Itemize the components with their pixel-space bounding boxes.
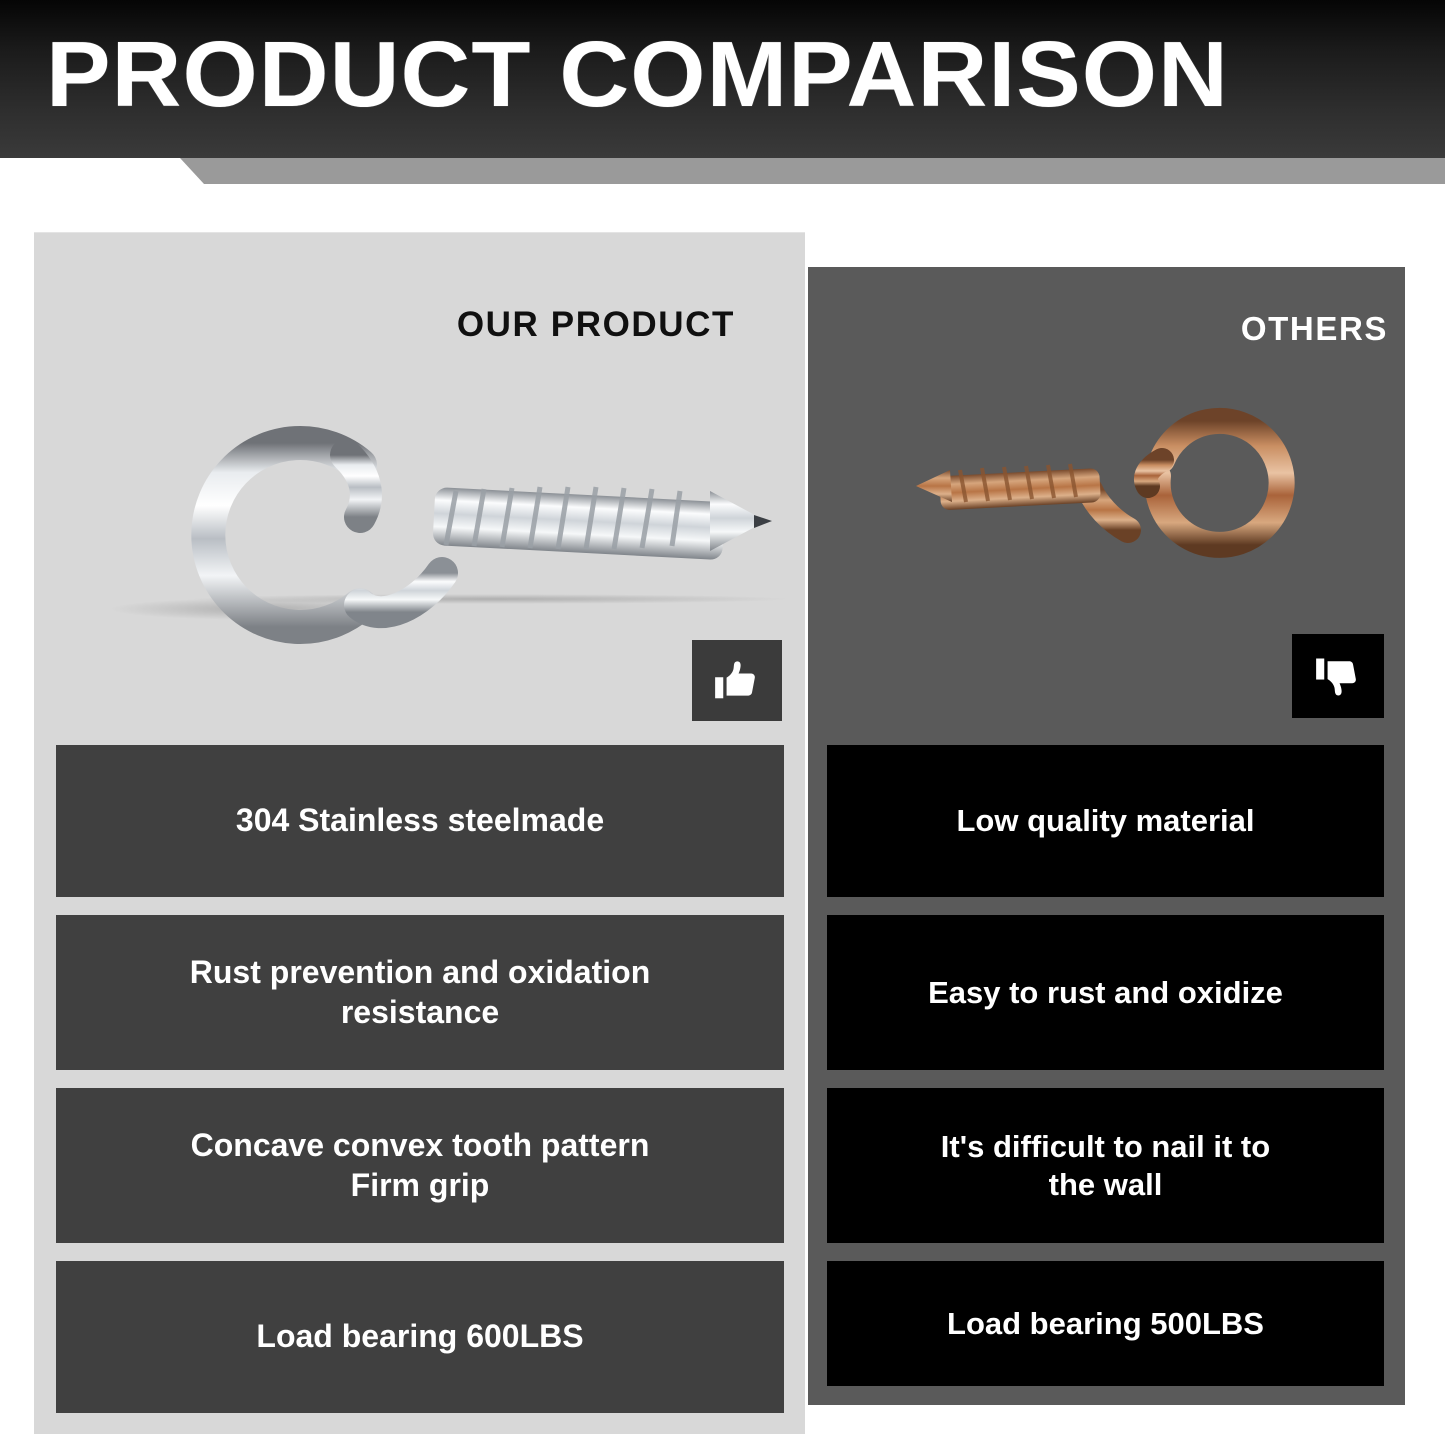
others-feature-item: Load bearing 500LBS — [827, 1261, 1384, 1386]
others-feature-line: Easy to rust and oxidize — [928, 974, 1283, 1012]
others-feature-item: Low quality material — [827, 745, 1384, 897]
our-product-image — [60, 355, 790, 655]
others-feature-line: the wall — [941, 1166, 1270, 1204]
others-feature-line: It's difficult to nail it to — [941, 1128, 1270, 1166]
others-label: OTHERS — [1060, 310, 1388, 348]
thumbs-up-icon — [711, 656, 763, 706]
thumbs-down-badge — [1292, 634, 1384, 718]
our-feature-line: Rust prevention and oxidation — [190, 953, 650, 992]
others-feature-line: Load bearing 500LBS — [947, 1305, 1264, 1343]
others-feature-item: Easy to rust and oxidize — [827, 915, 1384, 1070]
page-title: PRODUCT COMPARISON — [46, 24, 1229, 124]
our-feature-line: Concave convex tooth pattern — [191, 1126, 650, 1165]
our-feature-line: resistance — [190, 993, 650, 1032]
our-feature-line: Load bearing 600LBS — [256, 1317, 583, 1356]
thumbs-up-badge — [692, 640, 782, 721]
our-feature-item: Load bearing 600LBS — [56, 1261, 784, 1413]
our-feature-line: 304 Stainless steelmade — [236, 801, 604, 840]
our-feature-item: 304 Stainless steelmade — [56, 745, 784, 897]
our-feature-item: Concave convex tooth pattern Firm grip — [56, 1088, 784, 1243]
page-header: PRODUCT COMPARISON — [0, 0, 1445, 158]
others-feature-item: It's difficult to nail it to the wall — [827, 1088, 1384, 1243]
our-feature-line: Firm grip — [191, 1166, 650, 1205]
header-accent-banner — [0, 158, 1445, 184]
our-feature-item: Rust prevention and oxidation resistance — [56, 915, 784, 1070]
thumbs-down-icon — [1312, 651, 1364, 701]
our-product-label: OUR PRODUCT — [390, 305, 735, 345]
others-feature-line: Low quality material — [956, 802, 1254, 840]
others-product-image — [900, 398, 1320, 598]
